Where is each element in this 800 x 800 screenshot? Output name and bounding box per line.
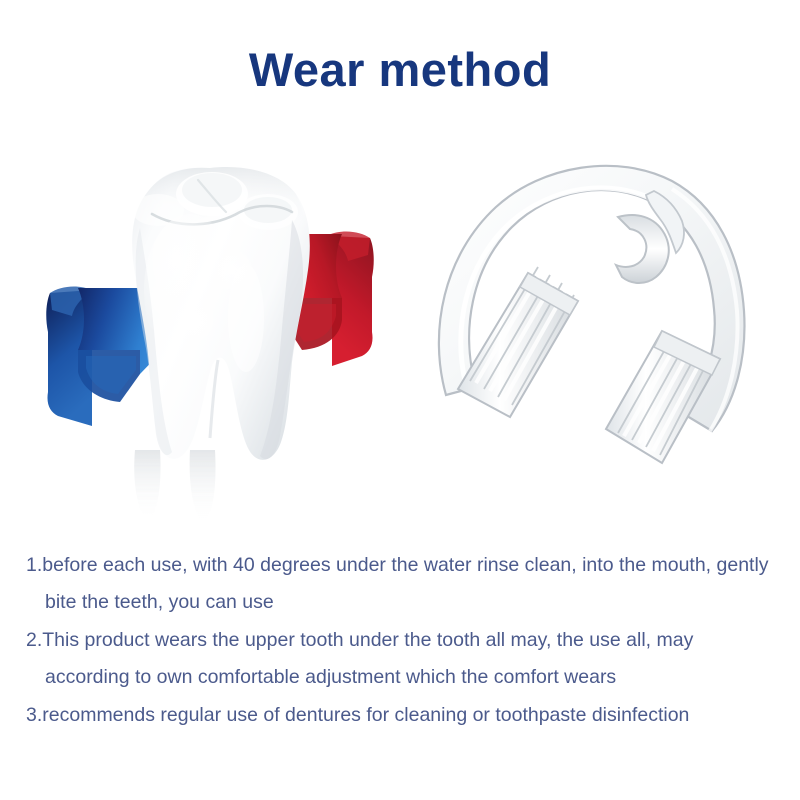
instruction-item-2: 2.This product wears the upper tooth und… — [26, 622, 774, 696]
instruction-text-1: before each use, with 40 degrees under t… — [42, 554, 768, 613]
page-title: Wear method — [0, 44, 800, 96]
instructions-list: 1.before each use, with 40 degrees under… — [0, 527, 800, 734]
instruction-text-2: This product wears the upper tooth under… — [42, 629, 693, 688]
instruction-number-1: 1. — [26, 554, 42, 576]
instruction-item-1: 1.before each use, with 40 degrees under… — [26, 547, 774, 621]
instruction-text-3: recommends regular use of dentures for c… — [42, 704, 689, 726]
illustration-area — [0, 140, 800, 520]
instruction-number-2: 2. — [26, 629, 42, 651]
instruction-number-3: 3. — [26, 704, 42, 726]
molar-tooth-illustration — [40, 150, 380, 520]
red-arrow-glow — [208, 246, 256, 294]
tooth-reflection — [134, 450, 215, 520]
tooth-body — [132, 167, 310, 460]
instruction-item-3: 3.recommends regular use of dentures for… — [26, 697, 774, 734]
blue-arrow-glow — [166, 294, 218, 346]
dental-mouthguard-illustration — [410, 145, 770, 475]
